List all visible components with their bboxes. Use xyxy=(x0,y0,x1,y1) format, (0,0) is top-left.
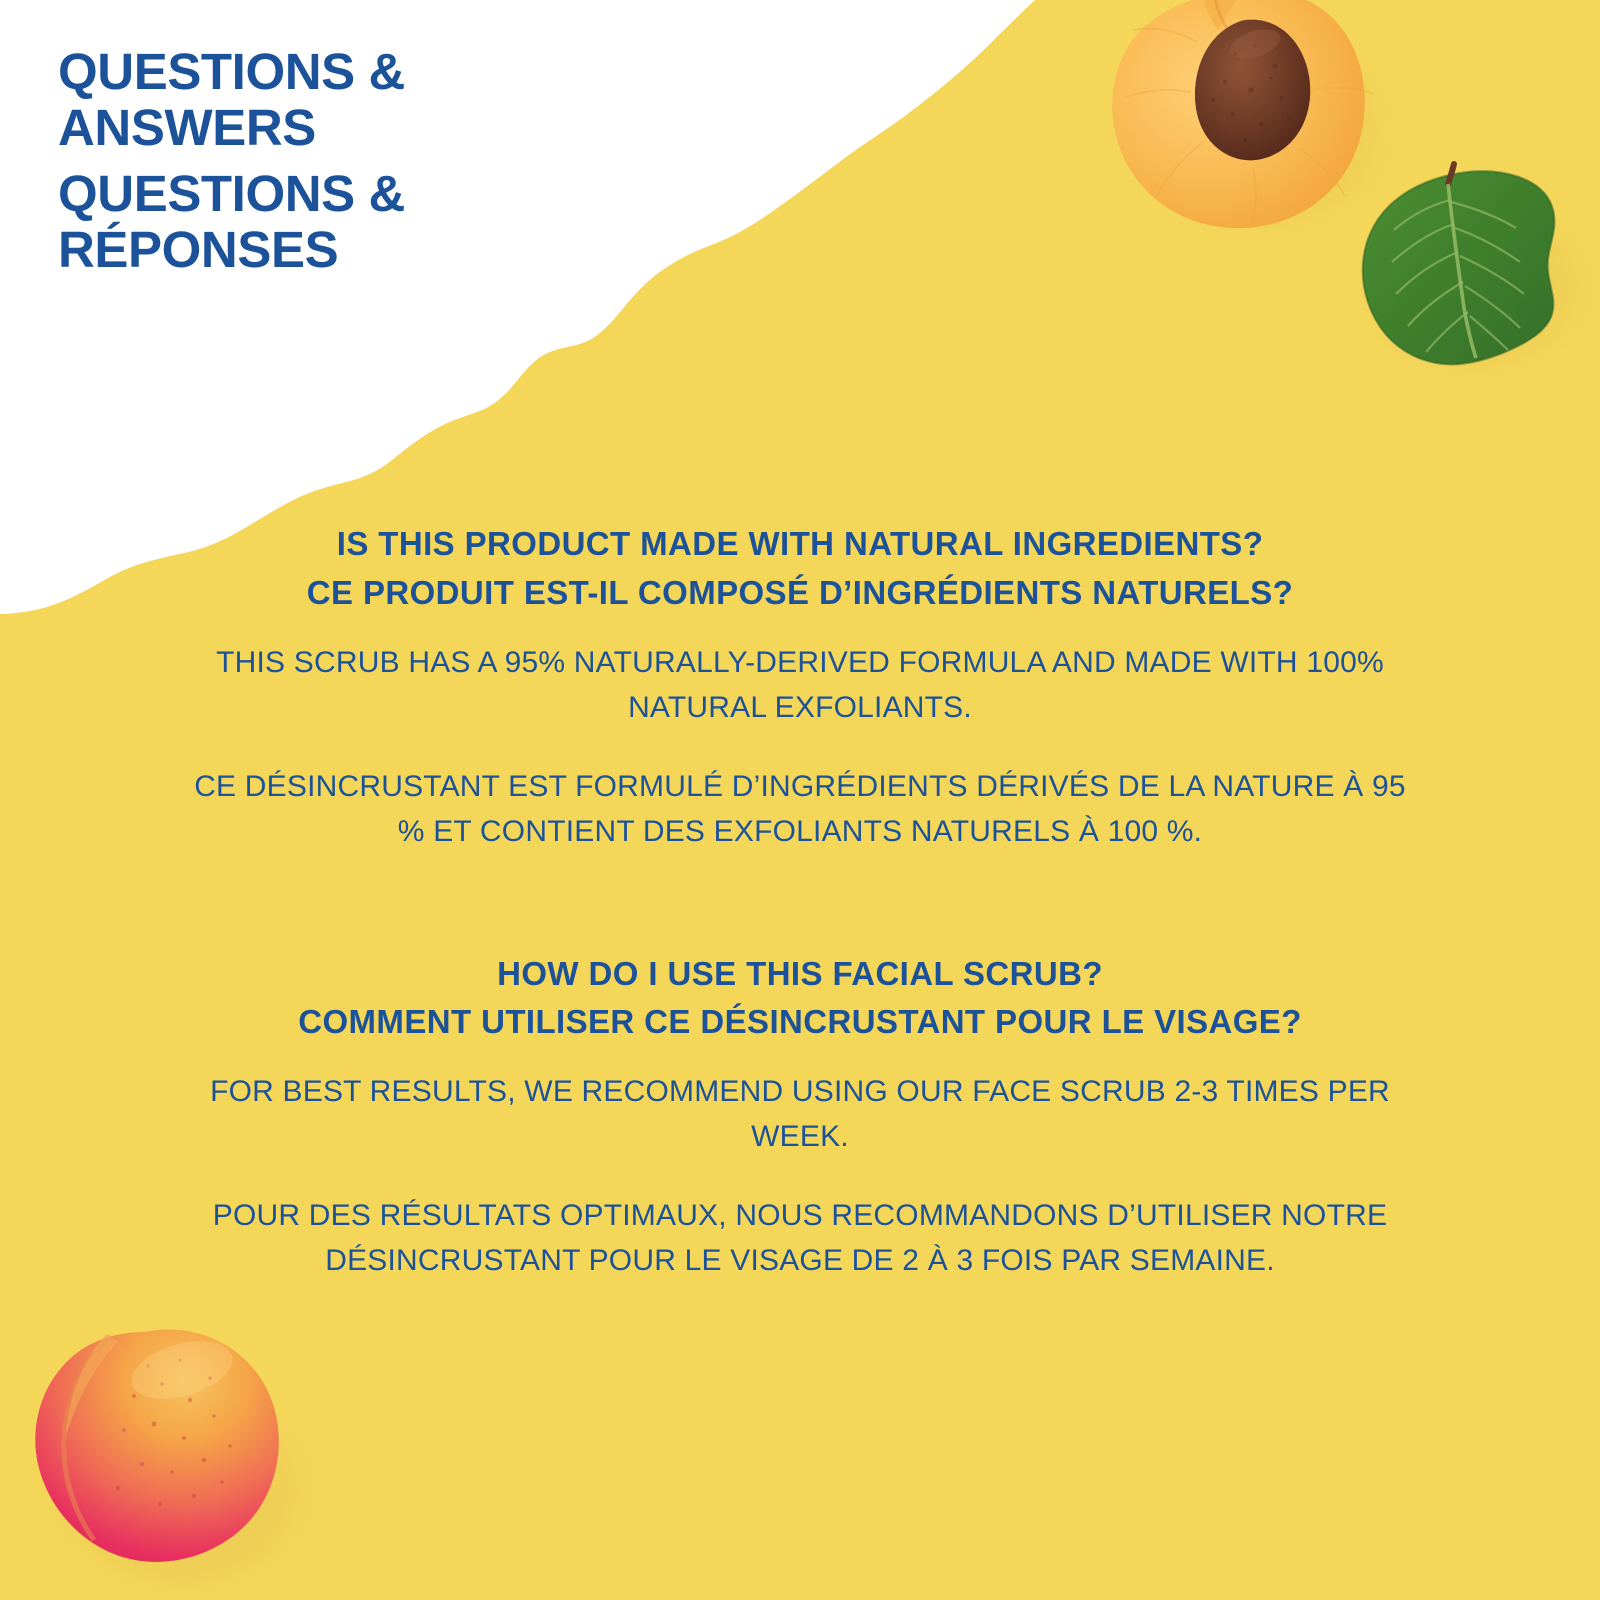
qa-question-french-1: CE PRODUIT EST-IL COMPOSÉ D’INGRÉDIENTS … xyxy=(130,569,1470,618)
qa-answer-french-2: POUR DES RÉSULTATS OPTIMAUX, NOUS RECOMM… xyxy=(180,1193,1420,1283)
qa-content: IS THIS PRODUCT MADE WITH NATURAL INGRED… xyxy=(0,520,1600,1283)
poster-canvas: QUESTIONS & ANSWERS QUESTIONS & RÉPONSES… xyxy=(0,0,1600,1600)
page-title: QUESTIONS & ANSWERS QUESTIONS & RÉPONSES xyxy=(58,44,698,278)
qa-question-english-2: HOW DO I USE THIS FACIAL SCRUB? xyxy=(130,950,1470,999)
apricot-half-image xyxy=(1085,0,1395,240)
qa-answer-english-2: FOR BEST RESULTS, WE RECOMMEND USING OUR… xyxy=(180,1069,1420,1159)
qa-question-french-2: COMMENT UTILISER CE DÉSINCRUSTANT POUR L… xyxy=(130,998,1470,1047)
title-line-english-1: QUESTIONS & xyxy=(58,44,698,100)
apricot-leaf-image xyxy=(1318,158,1596,388)
qa-answer-english-1: THIS SCRUB HAS A 95% NATURALLY-DERIVED F… xyxy=(180,640,1420,730)
title-line-french-1: QUESTIONS & xyxy=(58,156,698,222)
qa-question-english-1: IS THIS PRODUCT MADE WITH NATURAL INGRED… xyxy=(130,520,1470,569)
title-line-french-2: RÉPONSES xyxy=(58,222,698,278)
qa-answer-french-1: CE DÉSINCRUSTANT EST FORMULÉ D’INGRÉDIEN… xyxy=(180,764,1420,854)
qa-item-1: IS THIS PRODUCT MADE WITH NATURAL INGRED… xyxy=(0,520,1600,854)
qa-item-2: HOW DO I USE THIS FACIAL SCRUB? COMMENT … xyxy=(0,950,1600,1284)
title-line-english-2: ANSWERS xyxy=(58,100,698,156)
whole-apricot-image xyxy=(14,1300,324,1600)
